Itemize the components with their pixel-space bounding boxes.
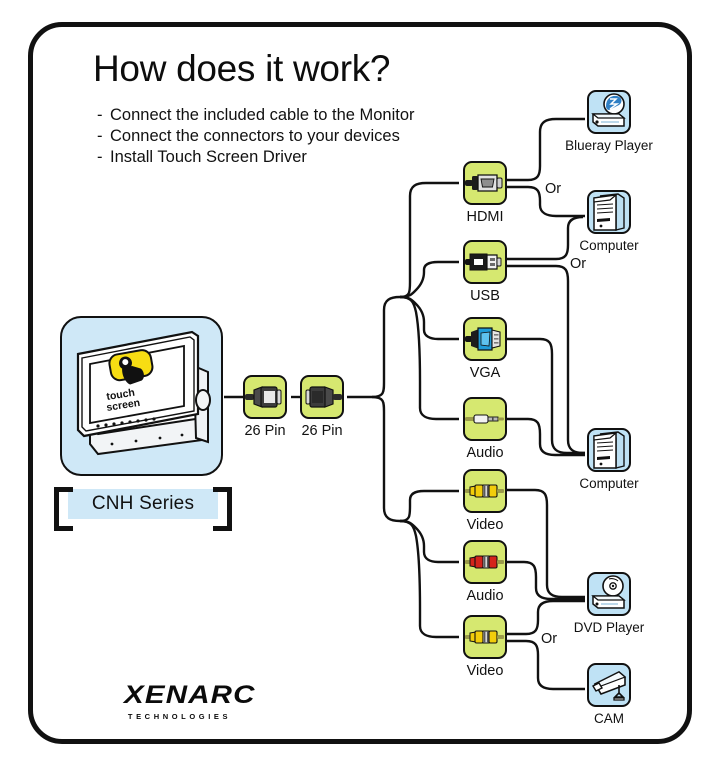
connector-label: VGA bbox=[470, 365, 501, 381]
hdmi-connector-icon bbox=[465, 172, 505, 194]
connector-usb[interactable]: USB bbox=[463, 240, 507, 284]
connector-label: USB bbox=[470, 288, 500, 304]
device-dvd-player[interactable]: DVD Player bbox=[587, 572, 631, 616]
device-icon-box bbox=[587, 190, 631, 234]
connector-audio-rca[interactable]: Audio bbox=[463, 540, 507, 584]
desktop-computer-icon bbox=[590, 192, 628, 232]
device-label: Blueray Player bbox=[565, 138, 653, 153]
cnh-monitor-icon: touch screen bbox=[62, 318, 220, 473]
device-icon-box bbox=[587, 572, 631, 616]
bluray-player-icon bbox=[589, 93, 629, 131]
bullet-dash: - bbox=[97, 105, 110, 126]
rca-audio-red-connector-icon bbox=[465, 553, 505, 571]
bullet-dash: - bbox=[97, 147, 110, 168]
device-label: DVD Player bbox=[574, 620, 645, 635]
security-camera-icon bbox=[589, 667, 629, 703]
connector-vga[interactable]: VGA bbox=[463, 317, 507, 361]
series-label: CNH Series bbox=[54, 487, 232, 521]
connector-26pin-1[interactable]: 26 Pin bbox=[243, 375, 287, 419]
brand-wordmark: XENARC bbox=[124, 681, 256, 710]
list-item: -Install Touch Screen Driver bbox=[97, 147, 415, 168]
monitor-illustration-panel: touch screen bbox=[60, 316, 223, 476]
device-label: Computer bbox=[579, 238, 638, 253]
brand-tagline: TECHNOLOGIES bbox=[97, 712, 262, 721]
connector-label: Video bbox=[467, 517, 504, 533]
device-blueray-player[interactable]: Blueray Player bbox=[587, 90, 631, 134]
connector-label: 26 Pin bbox=[244, 423, 285, 439]
vga-connector-icon bbox=[465, 326, 505, 352]
26pin-female-connector-icon bbox=[302, 384, 342, 410]
device-icon-box bbox=[587, 428, 631, 472]
device-computer-1[interactable]: Computer bbox=[587, 190, 631, 234]
usb-connector-icon bbox=[465, 251, 505, 273]
page-title: How does it work? bbox=[93, 48, 390, 90]
connector-video-2[interactable]: Video bbox=[463, 615, 507, 659]
connector-icon-box bbox=[463, 540, 507, 584]
device-label: Computer bbox=[579, 476, 638, 491]
connector-icon-box bbox=[463, 469, 507, 513]
connector-label: Video bbox=[467, 663, 504, 679]
device-computer-2[interactable]: Computer bbox=[587, 428, 631, 472]
bullet-dash: - bbox=[97, 126, 110, 147]
instruction-list: -Connect the included cable to the Monit… bbox=[97, 105, 415, 168]
instruction-text: Connect the connectors to your devices bbox=[110, 127, 400, 145]
connector-icon-box bbox=[243, 375, 287, 419]
dvd-player-icon bbox=[589, 575, 629, 613]
instruction-text: Connect the included cable to the Monito… bbox=[110, 106, 415, 124]
or-label-1: Or bbox=[545, 181, 561, 197]
26pin-male-connector-icon bbox=[245, 384, 285, 410]
connector-video-1[interactable]: Video bbox=[463, 469, 507, 513]
series-badge: CNH Series bbox=[54, 487, 232, 521]
device-icon-box bbox=[587, 90, 631, 134]
connector-label: Audio bbox=[466, 588, 503, 604]
device-label: CAM bbox=[594, 711, 624, 726]
connector-audio-jack[interactable]: Audio bbox=[463, 397, 507, 441]
list-item: -Connect the connectors to your devices bbox=[97, 126, 415, 147]
connector-label: 26 Pin bbox=[301, 423, 342, 439]
connector-icon-box bbox=[463, 240, 507, 284]
connector-label: Audio bbox=[466, 445, 503, 461]
diagram-canvas: How does it work? -Connect the included … bbox=[0, 0, 720, 767]
connector-hdmi[interactable]: HDMI bbox=[463, 161, 507, 205]
audio-jack-connector-icon bbox=[465, 411, 505, 427]
connector-icon-box bbox=[463, 317, 507, 361]
connector-icon-box bbox=[463, 161, 507, 205]
device-icon-box bbox=[587, 663, 631, 707]
list-item: -Connect the included cable to the Monit… bbox=[97, 105, 415, 126]
connector-icon-box bbox=[463, 615, 507, 659]
brand-logo: XENARC TECHNOLOGIES bbox=[97, 681, 262, 721]
rca-video-yellow-connector-icon bbox=[465, 482, 505, 500]
connector-26pin-2[interactable]: 26 Pin bbox=[300, 375, 344, 419]
or-label-3: Or bbox=[541, 631, 557, 647]
device-cam[interactable]: CAM bbox=[587, 663, 631, 707]
instruction-text: Install Touch Screen Driver bbox=[110, 148, 307, 166]
connector-icon-box bbox=[463, 397, 507, 441]
desktop-computer-icon bbox=[590, 430, 628, 470]
connector-label: HDMI bbox=[466, 209, 503, 225]
rca-video-yellow-connector-icon bbox=[465, 628, 505, 646]
or-label-2: Or bbox=[570, 256, 586, 272]
connector-icon-box bbox=[300, 375, 344, 419]
